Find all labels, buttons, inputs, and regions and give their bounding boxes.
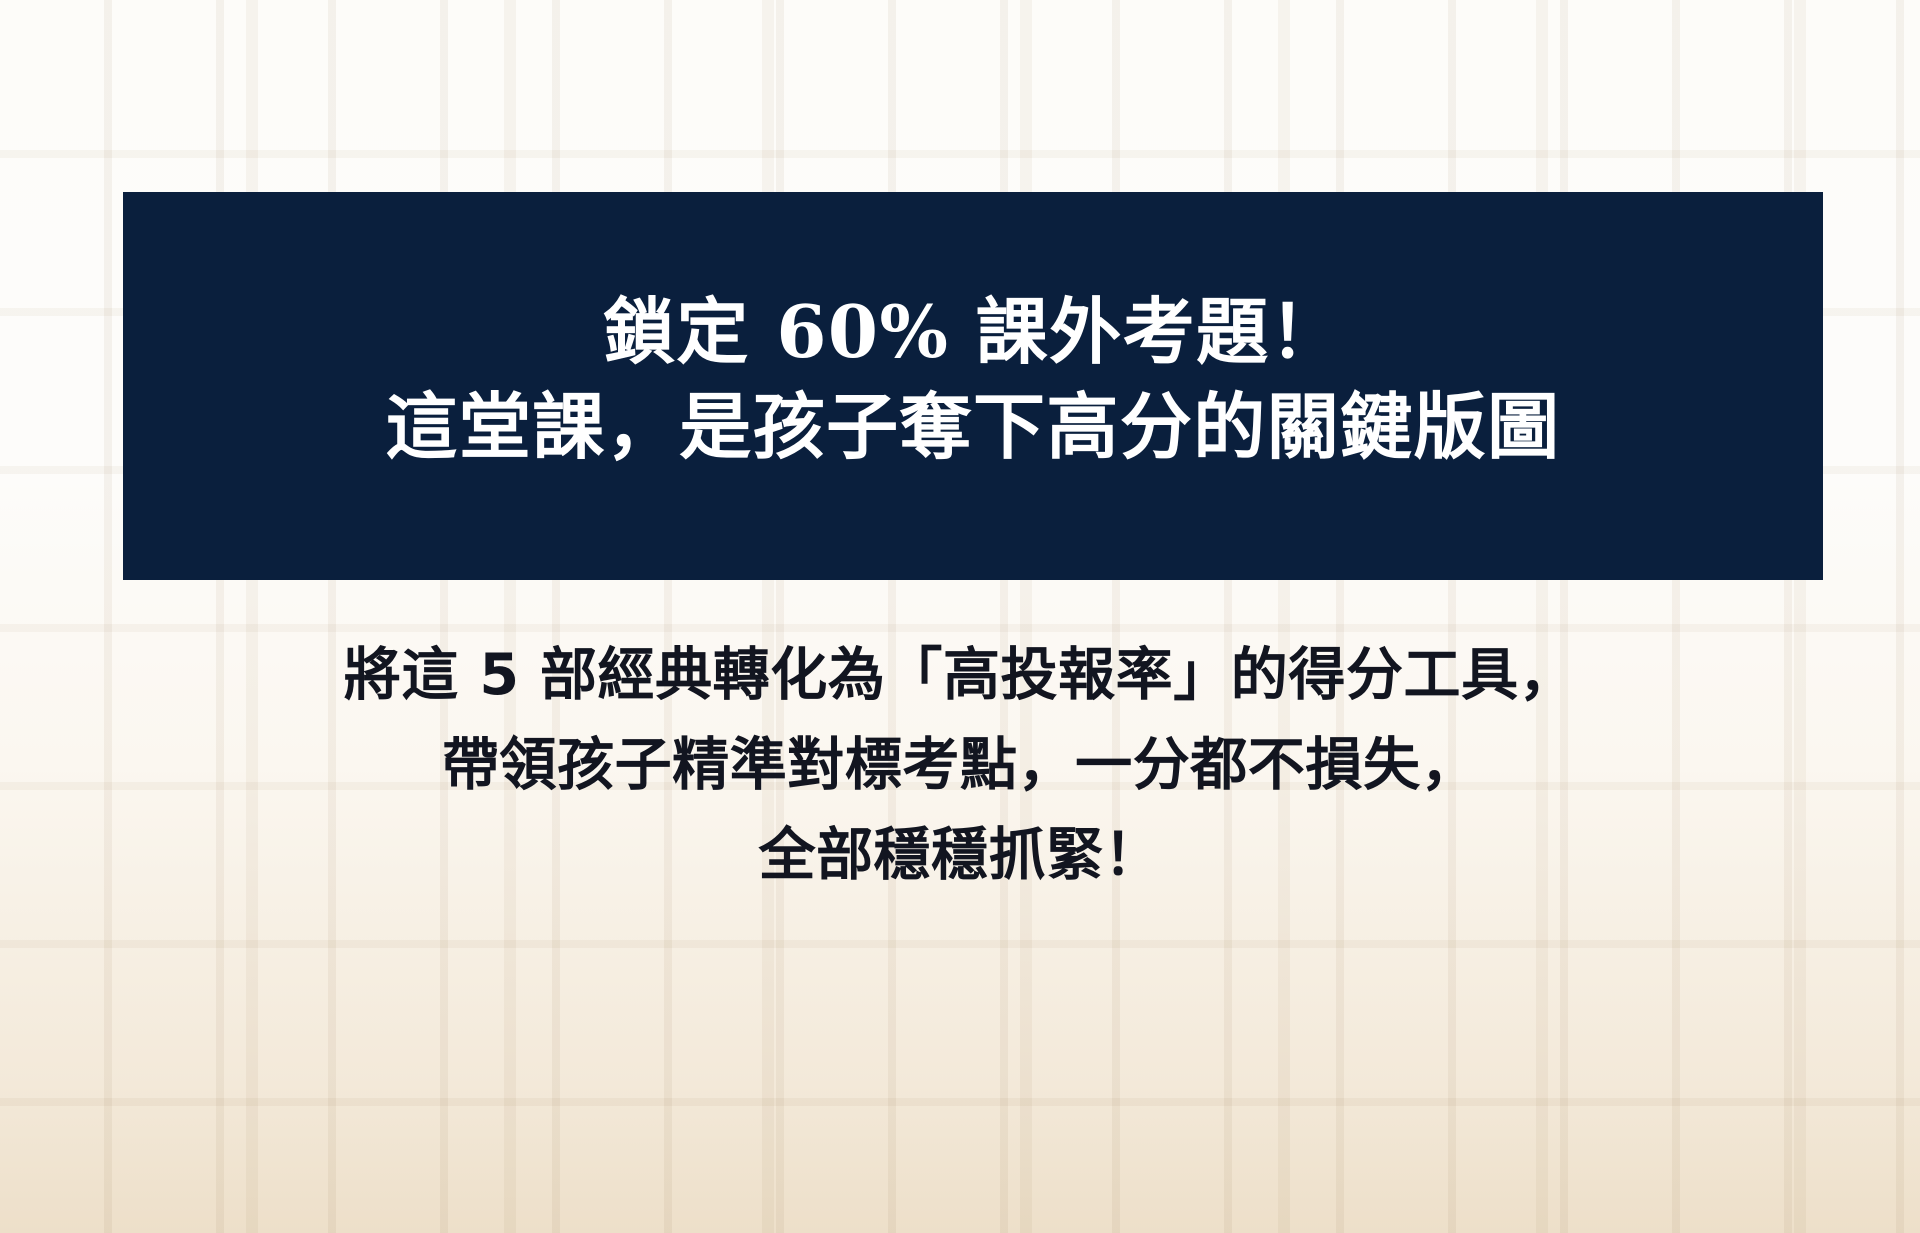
background-grid-pattern-accent	[0, 0, 1920, 1233]
subtitle-block: 將這 5 部經典轉化為「高投報率」的得分工具， 帶領孩子精準對標考點，一分都不損…	[0, 630, 1920, 900]
background-grid-pattern	[0, 0, 1920, 1233]
subtitle-line-1: 將這 5 部經典轉化為「高投報率」的得分工具，	[0, 630, 1920, 720]
promo-slide: 鎖定 60% 課外考題！ 這堂課，是孩子奪下高分的關鍵版圖 將這 5 部經典轉化…	[0, 0, 1920, 1233]
headline-panel: 鎖定 60% 課外考題！ 這堂課，是孩子奪下高分的關鍵版圖	[123, 192, 1823, 580]
headline-line-2: 這堂課，是孩子奪下高分的關鍵版圖	[385, 379, 1560, 474]
headline-line-1: 鎖定 60% 課外考題！	[603, 284, 1343, 379]
subtitle-line-2: 帶領孩子精準對標考點，一分都不損失，	[0, 720, 1920, 810]
subtitle-line-3: 全部穩穩抓緊！	[0, 810, 1920, 900]
